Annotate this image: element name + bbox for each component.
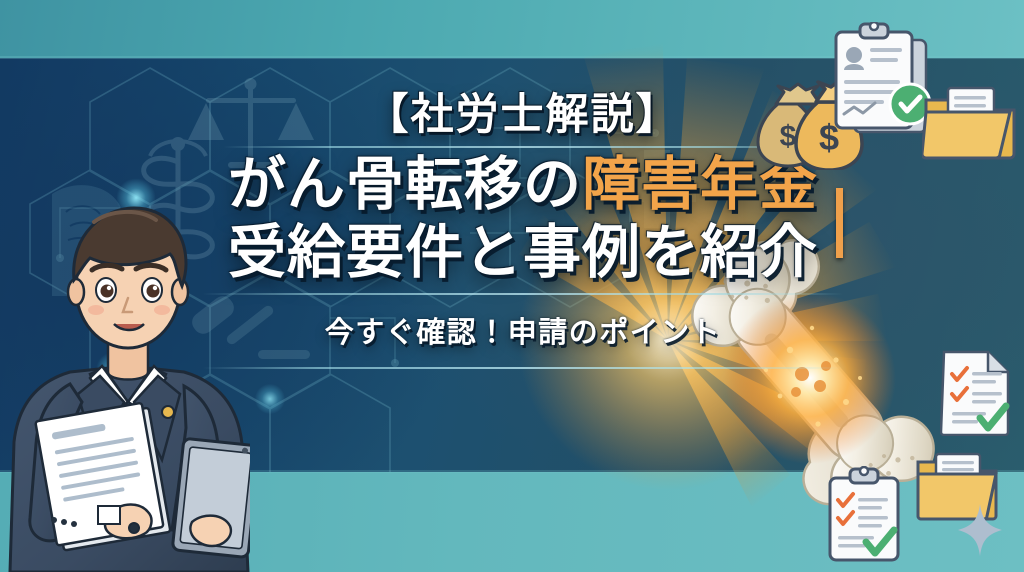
clipboard-checklist-icon [826, 466, 902, 562]
headline-line-2: 受給要件と事例を紹介 [178, 222, 868, 283]
divider-lower [203, 293, 843, 295]
shirt-cuff-left [98, 506, 120, 524]
checklist-document-icon [940, 348, 1012, 436]
open-folder-document-icon [922, 84, 1022, 164]
banner-canvas: 【社労士解説】 がん骨転移の障害年金 受給要件と事例を紹介 今すぐ確認！申請のポ… [0, 0, 1024, 572]
sharoushi-character-illustration [8, 176, 250, 572]
headline-part-plain: がん骨転移の [228, 152, 582, 217]
divider-upper [223, 146, 823, 148]
accent-bar [836, 188, 843, 258]
sparkle-diamond-icon [958, 504, 1002, 556]
subtitle-text: 今すぐ確認！申請のポイント [178, 309, 868, 351]
divider-bottom [203, 367, 843, 369]
hand-right [190, 516, 230, 546]
lapel-badge [162, 406, 174, 418]
svg-text:$: $ [780, 120, 797, 153]
jacket-button [129, 523, 139, 533]
